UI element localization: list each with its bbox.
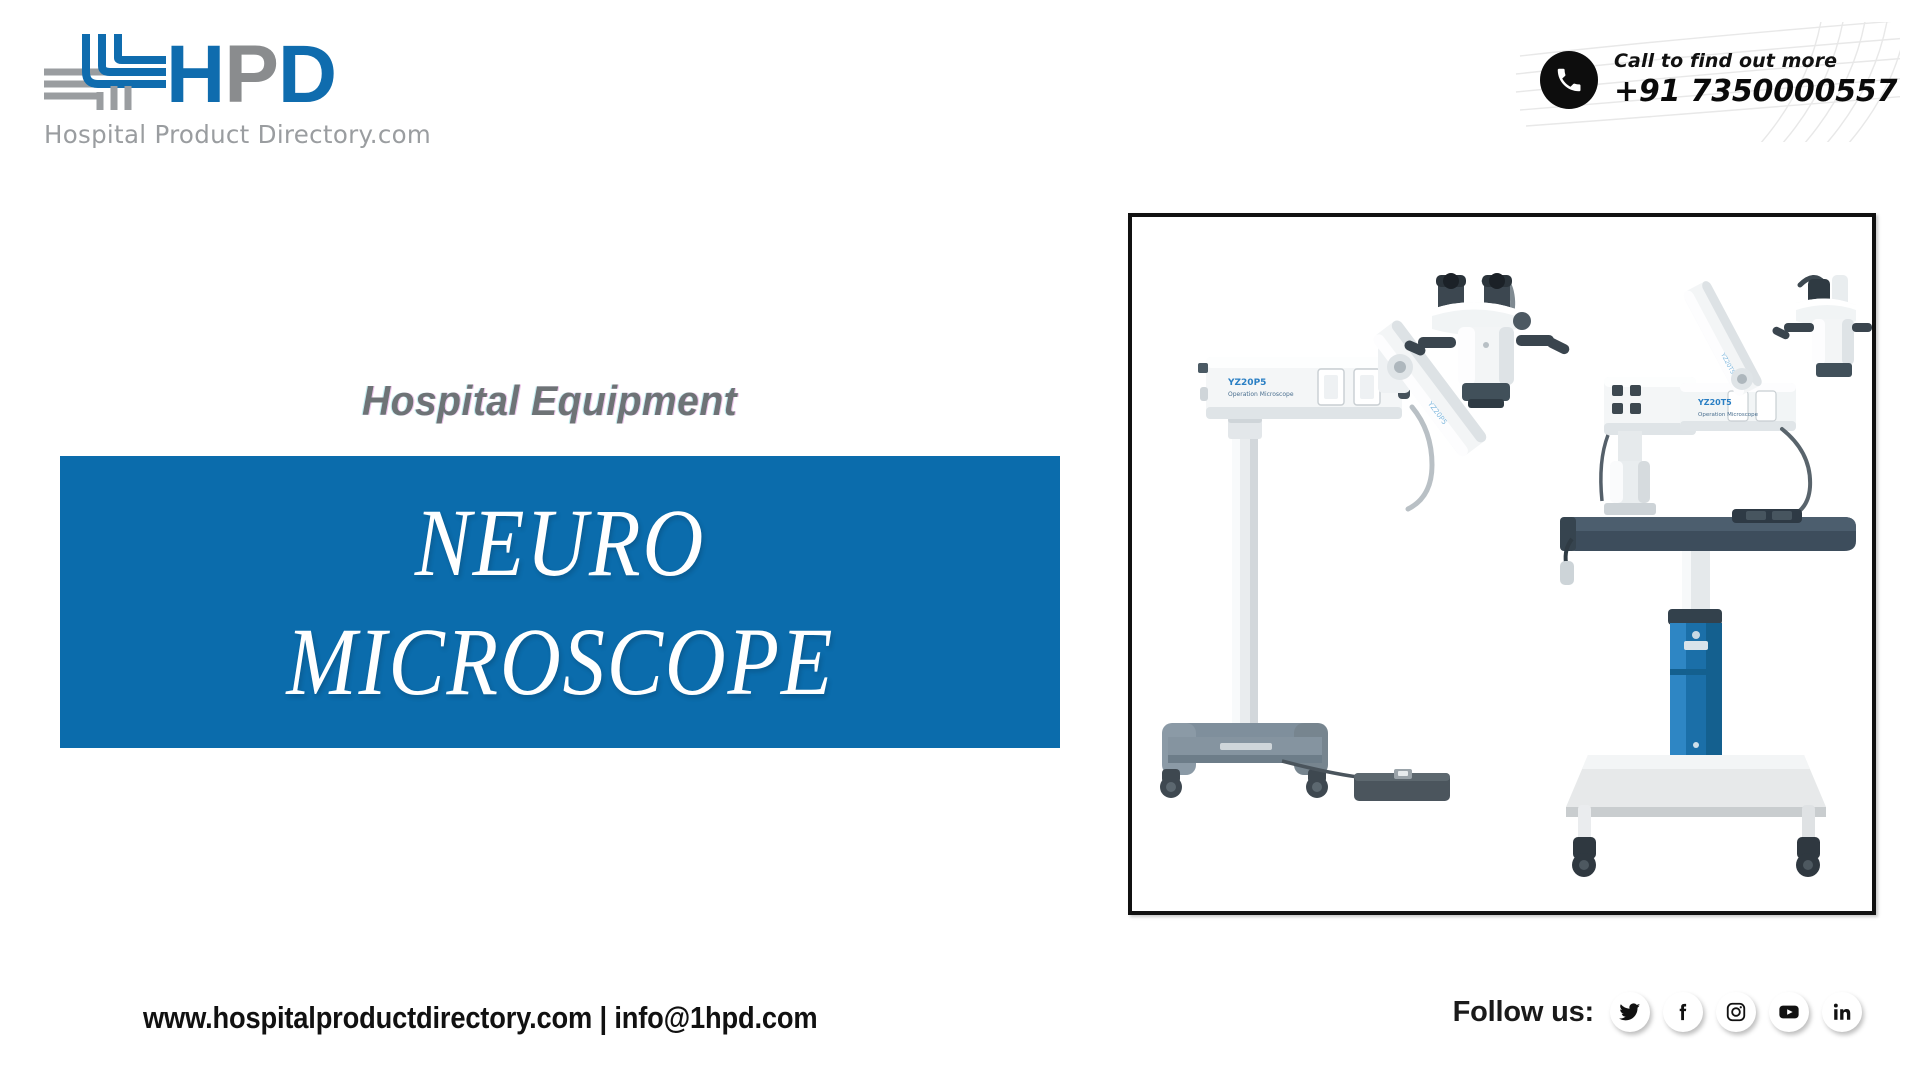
banner-page: HPD Hospital Product Directory.com xyxy=(0,0,1920,1080)
social-icon-list xyxy=(1610,992,1862,1032)
call-label: Call to find out more xyxy=(1614,50,1897,72)
facebook-icon[interactable] xyxy=(1663,992,1703,1032)
call-text: Call to find out more +91 7350000557 xyxy=(1614,50,1897,109)
logo-letter-d: D xyxy=(278,29,336,120)
logo-letter-h: H xyxy=(166,29,224,120)
title-banner: NEURO MICROSCOPE xyxy=(60,456,1060,748)
youtube-icon[interactable] xyxy=(1769,992,1809,1032)
svg-text:Operation Microscope: Operation Microscope xyxy=(1698,412,1759,418)
logo-letter-p: P xyxy=(224,29,278,120)
product-image-panel: YZ20P5 Operation Microscope YZ20P5 xyxy=(1128,213,1876,915)
hpd-logo-mark-icon xyxy=(42,28,170,114)
instagram-icon[interactable] xyxy=(1716,992,1756,1032)
brand-logo[interactable]: HPD Hospital Product Directory.com xyxy=(42,28,512,150)
call-to-action-block[interactable]: Call to find out more +91 7350000557 xyxy=(1510,22,1900,142)
call-inner: Call to find out more +91 7350000557 xyxy=(1540,50,1897,109)
phone-number[interactable]: +91 7350000557 xyxy=(1614,74,1897,109)
svg-text:YZ20P5: YZ20P5 xyxy=(1227,378,1266,388)
linkedin-icon[interactable] xyxy=(1822,992,1862,1032)
logo-tagline: Hospital Product Directory.com xyxy=(44,120,512,149)
title-line-1: NEURO xyxy=(415,483,705,602)
product-image: YZ20P5 Operation Microscope YZ20P5 xyxy=(1132,217,1872,911)
twitter-icon[interactable] xyxy=(1610,992,1650,1032)
logo-row: HPD xyxy=(42,28,512,114)
eyebrow-text: Hospital Equipment xyxy=(362,377,737,425)
svg-text:Operation Microscope: Operation Microscope xyxy=(1228,391,1294,398)
logo-wordmark: HPD xyxy=(166,36,336,114)
follow-us-block: Follow us: xyxy=(1453,992,1862,1032)
title-line-2: MICROSCOPE xyxy=(286,602,834,721)
follow-us-label: Follow us: xyxy=(1453,996,1594,1029)
svg-text:YZ20T5: YZ20T5 xyxy=(1697,398,1732,407)
phone-icon[interactable] xyxy=(1540,51,1598,109)
footer-contact-text[interactable]: www.hospitalproductdirectory.com | info@… xyxy=(143,1000,817,1036)
